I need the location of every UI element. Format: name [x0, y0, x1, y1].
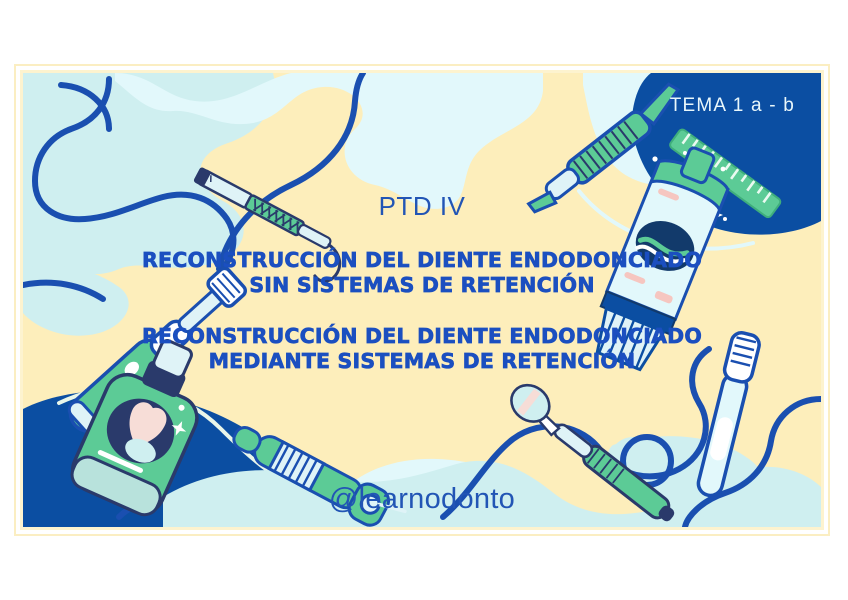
slide-frame: TEMA 1 a - b PTD IV RECONSTRUCCIÓN DEL D…: [20, 70, 824, 530]
illustration-canvas: TEMA 1 a - b PTD IV RECONSTRUCCIÓN DEL D…: [23, 73, 821, 527]
social-handle: @learnodonto: [23, 483, 821, 516]
tema-badge: TEMA 1 a - b: [670, 95, 795, 117]
background-illustration: [23, 73, 821, 527]
slide-page: TEMA 1 a - b PTD IV RECONSTRUCCIÓN DEL D…: [0, 0, 848, 600]
